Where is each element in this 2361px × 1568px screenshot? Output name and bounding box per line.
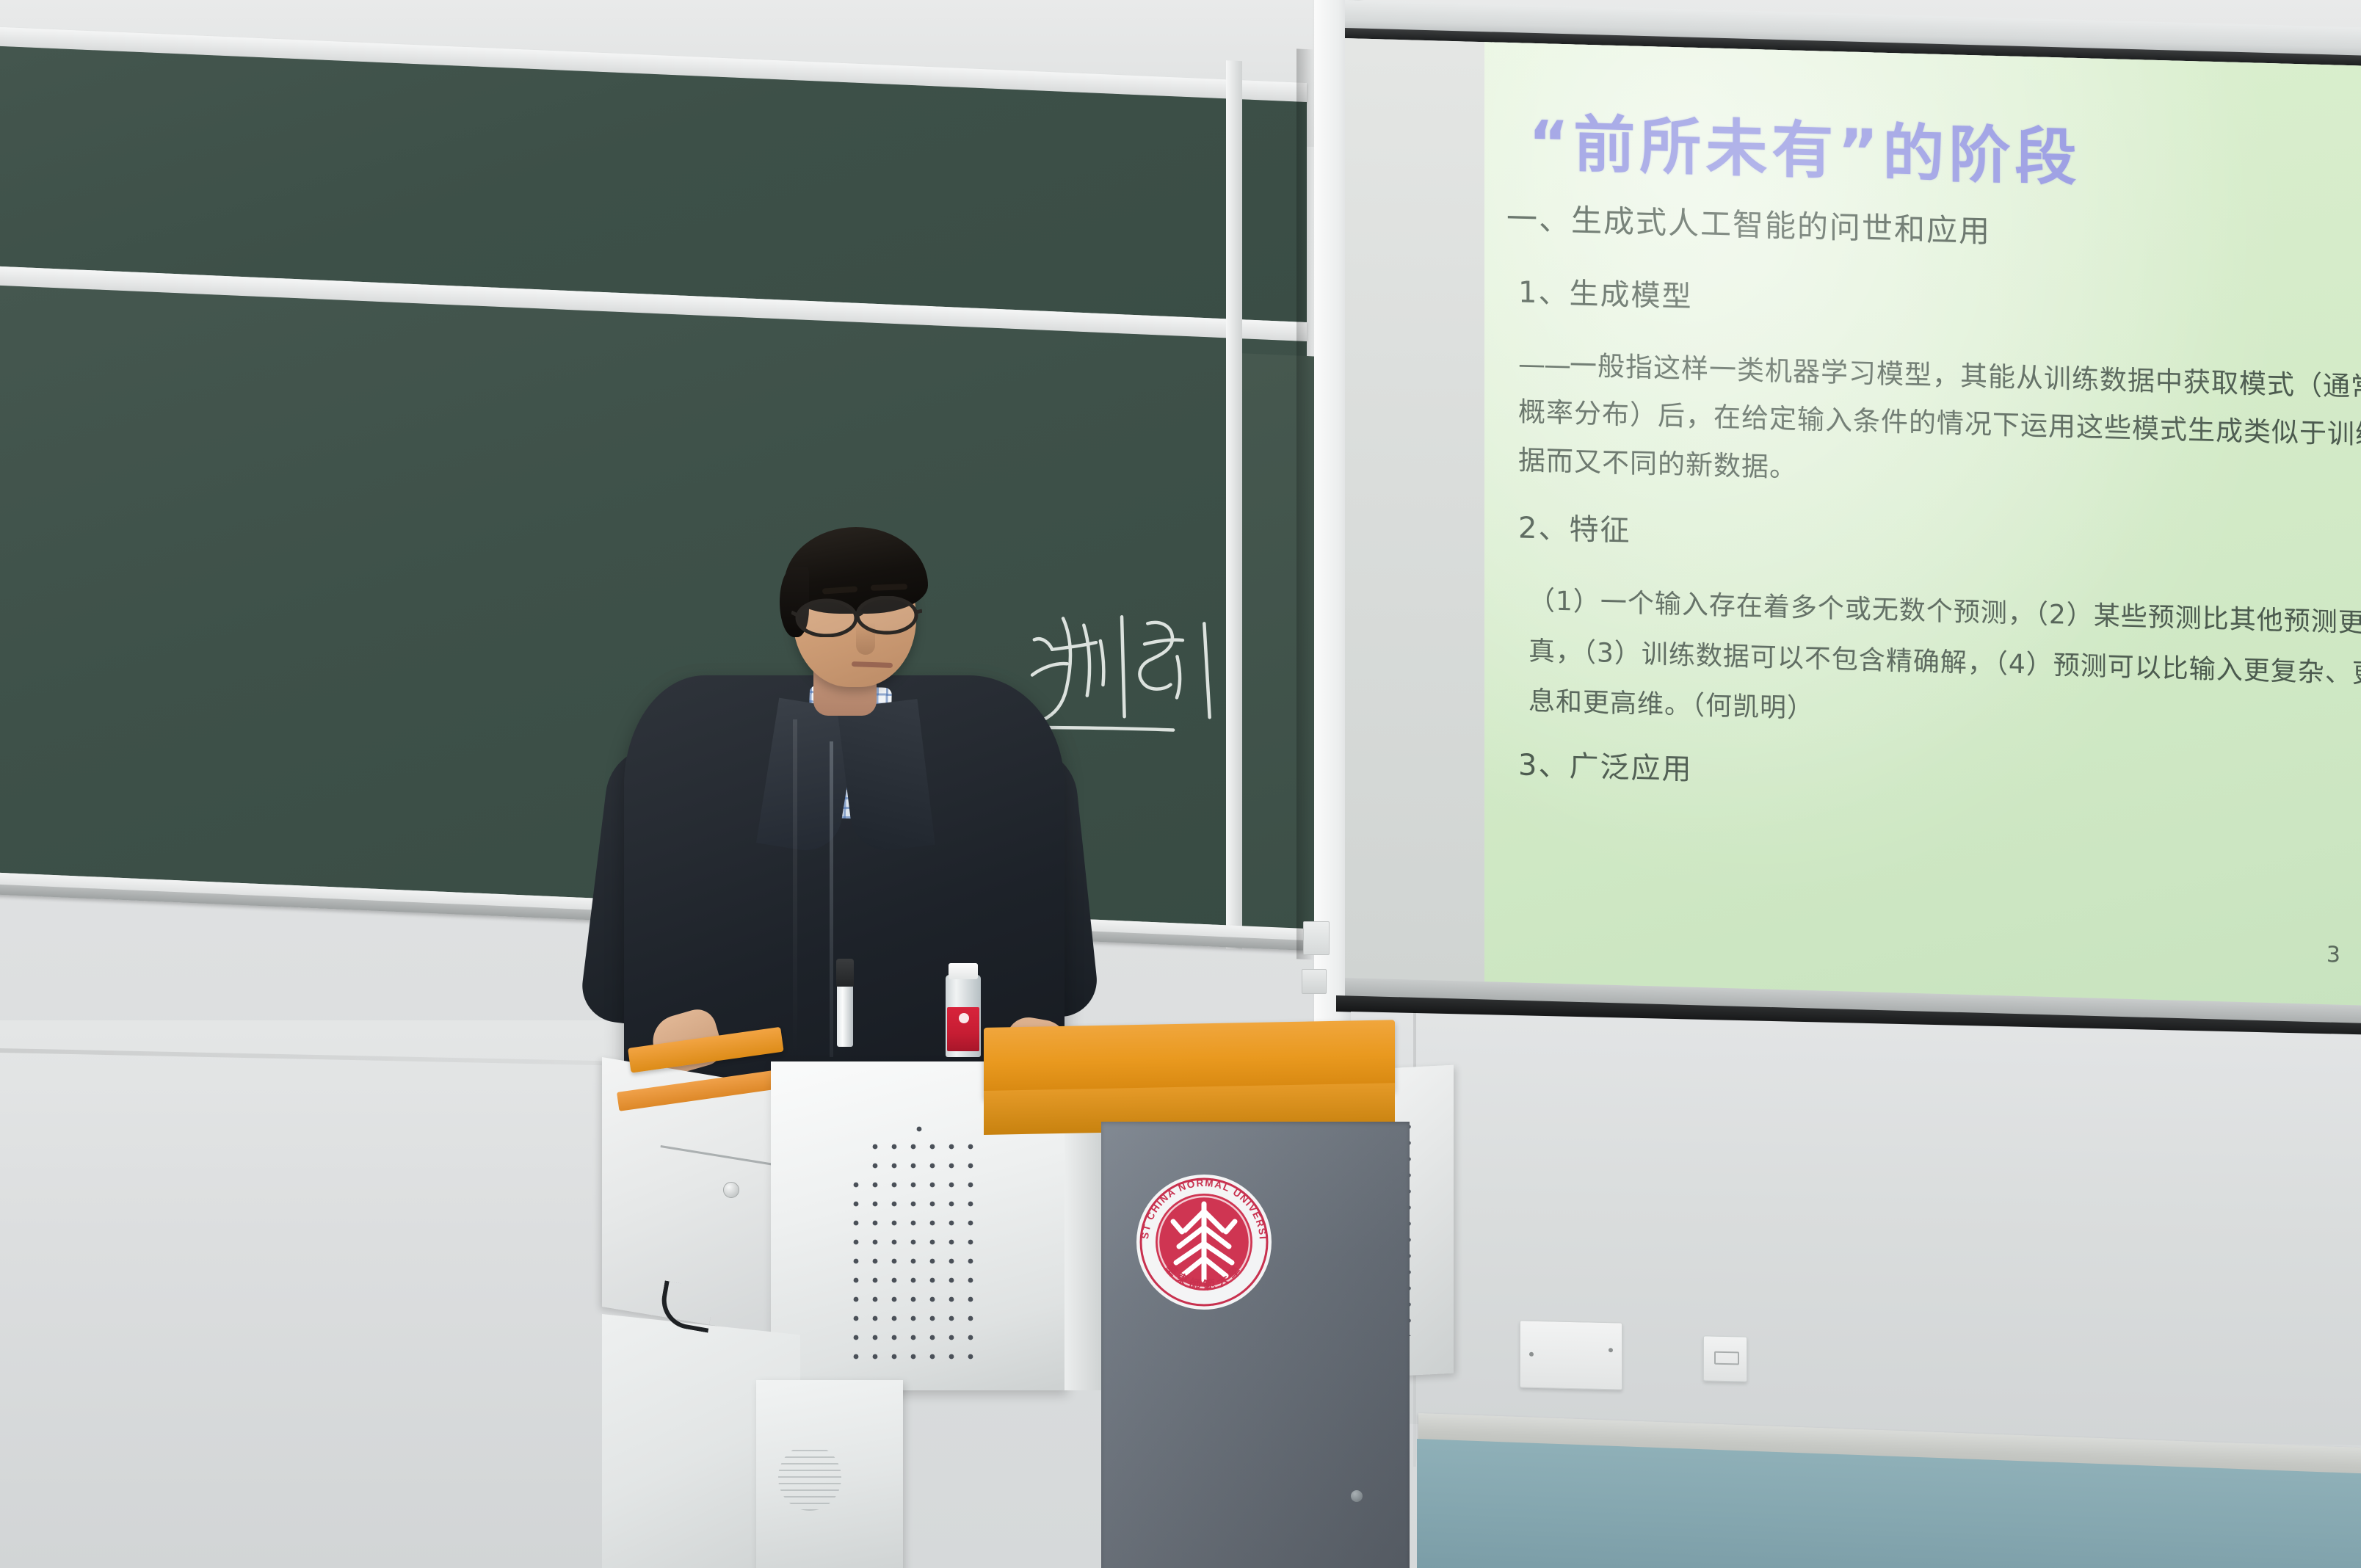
- projection-screen-switch-secondary[interactable]: [1302, 969, 1327, 994]
- chalkboard-edge-shadow: [1296, 48, 1314, 959]
- projection-screen-switch[interactable]: [1303, 921, 1330, 955]
- podium-pedestal-vent: [778, 1445, 841, 1511]
- classroom-photo-scene: “前所未有”的阶段 一、生成式人工智能的问世和应用 1、生成模型 ——一般指这样…: [0, 0, 2361, 1568]
- chalkboard-rail-right: [1226, 60, 1242, 949]
- microphone-icon[interactable]: [836, 959, 854, 987]
- slide-item-1: 1、生成模型: [1493, 267, 2361, 333]
- podium-lock-icon[interactable]: [723, 1182, 739, 1198]
- water-bottle-cap: [949, 963, 978, 979]
- presenter-jacket-fold: [793, 719, 797, 1057]
- slide-paragraph: ——一般指这样一类机器学习模型，其能从训练数据中获取模式（通常为概率分布）后，在…: [1493, 339, 2361, 509]
- presenter-nose: [856, 623, 875, 655]
- slide-item-3: 3、广泛应用: [1493, 741, 2361, 807]
- slide-paragraph-text: 一般指这样一类机器学习模型，其能从训练数据中获取模式（通常为概率分布）后，在给定…: [1518, 349, 2361, 484]
- slide-page-number: 3: [2326, 942, 2340, 968]
- slide-features: （1）一个输入存在着多个或无数个预测，（2）某些预测比其他预测更似真，（3）训练…: [1493, 576, 2361, 752]
- podium-screw: [1351, 1490, 1363, 1502]
- slide-section-heading: 一、生成式人工智能的问世和应用: [1493, 203, 2361, 257]
- slide-paragraph-dash: ——: [1518, 348, 1570, 381]
- podium-speaker-grille: [852, 1123, 984, 1365]
- slide-item-2: 2、特征: [1493, 504, 2361, 570]
- wall-data-jack[interactable]: [1703, 1335, 1747, 1382]
- slide-body: 一、生成式人工智能的问世和应用 1、生成模型 ——一般指这样一类机器学习模型，其…: [1484, 178, 2361, 807]
- ecnu-logo: EAST CHINA NORMAL UNIVERSITY 華東師範大學: [1131, 1169, 1277, 1315]
- projected-slide: “前所未有”的阶段 一、生成式人工智能的问世和应用 1、生成模型 ——一般指这样…: [1484, 39, 2361, 1014]
- presenter-jacket-zipper: [830, 741, 833, 1057]
- lectern-podium[interactable]: EAST CHINA NORMAL UNIVERSITY 華東師範大學: [631, 1035, 1600, 1568]
- projection-screen[interactable]: “前所未有”的阶段 一、生成式人工智能的问世和应用 1、生成模型 ——一般指这样…: [1345, 38, 2361, 1020]
